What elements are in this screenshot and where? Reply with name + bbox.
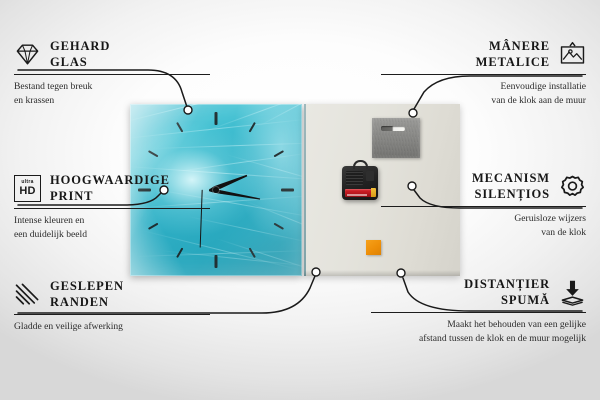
ultra-hd-icon-main-text: HD <box>19 186 35 197</box>
feature-header: ultra HD HOOGWAARDIGE PRINT <box>14 172 210 204</box>
feature-divider <box>381 206 586 207</box>
feature-geslepen-randen: GESLEPEN RANDEN Gladde en veilige afwerk… <box>14 278 210 334</box>
feature-mecanism-silentios: MECANISM SILENȚIOS Geruisloze wijzers va… <box>381 170 586 239</box>
ultra-hd-icon-top-text: ultra <box>21 180 33 185</box>
feature-header: MECANISM SILENȚIOS <box>381 170 586 202</box>
feature-title: MECANISM SILENȚIOS <box>472 170 550 202</box>
feature-divider <box>381 74 586 75</box>
feature-description: Bestand tegen breuk en krassen <box>14 80 210 107</box>
feature-divider <box>14 74 210 75</box>
ultra-hd-icon: ultra HD <box>14 175 41 202</box>
feature-title: GEHARD GLAS <box>50 38 110 70</box>
feature-divider <box>371 312 586 313</box>
feature-header: GEHARD GLAS <box>14 38 210 70</box>
gear-icon <box>559 173 586 200</box>
feature-title: DISTANȚIER SPUMĂ <box>464 276 550 308</box>
feature-description: Maakt het behouden van een gelijke afsta… <box>371 318 586 345</box>
diamond-icon <box>14 41 41 68</box>
feature-title: MÂNERE METALICE <box>476 38 550 70</box>
callout-node-geslepen-randen <box>312 268 320 276</box>
infographic-canvas: GEHARD GLAS Bestand tegen breuk en krass… <box>0 0 600 400</box>
feature-description: Intense kleuren en een duidelijk beeld <box>14 214 210 241</box>
feature-description: Eenvoudige installatie van de klok aan d… <box>381 80 586 107</box>
feature-description: Gladde en veilige afwerking <box>14 320 210 334</box>
diagonal-lines-icon <box>14 281 41 308</box>
picture-frame-hook-icon <box>559 41 586 68</box>
feature-divider <box>14 208 210 209</box>
feature-header: DISTANȚIER SPUMĂ <box>371 276 586 308</box>
feature-gehard-glas: GEHARD GLAS Bestand tegen breuk en krass… <box>14 38 210 107</box>
feature-divider <box>14 314 210 315</box>
feature-hoogwaardige-print: ultra HD HOOGWAARDIGE PRINT Intense kleu… <box>14 172 210 241</box>
callout-node-manere-metalice <box>409 109 417 117</box>
feature-header: GESLEPEN RANDEN <box>14 278 210 310</box>
feature-description: Geruisloze wijzers van de klok <box>381 212 586 239</box>
feature-title: GESLEPEN RANDEN <box>50 278 124 310</box>
feature-header: MÂNERE METALICE <box>381 38 586 70</box>
feature-manere-metalice: MÂNERE METALICE Eenvoudige installatie v… <box>381 38 586 107</box>
arrow-down-layers-icon <box>559 279 586 306</box>
feature-title: HOOGWAARDIGE PRINT <box>50 172 170 204</box>
feature-distantier-spuma: DISTANȚIER SPUMĂ Maakt het behouden van … <box>371 276 586 345</box>
